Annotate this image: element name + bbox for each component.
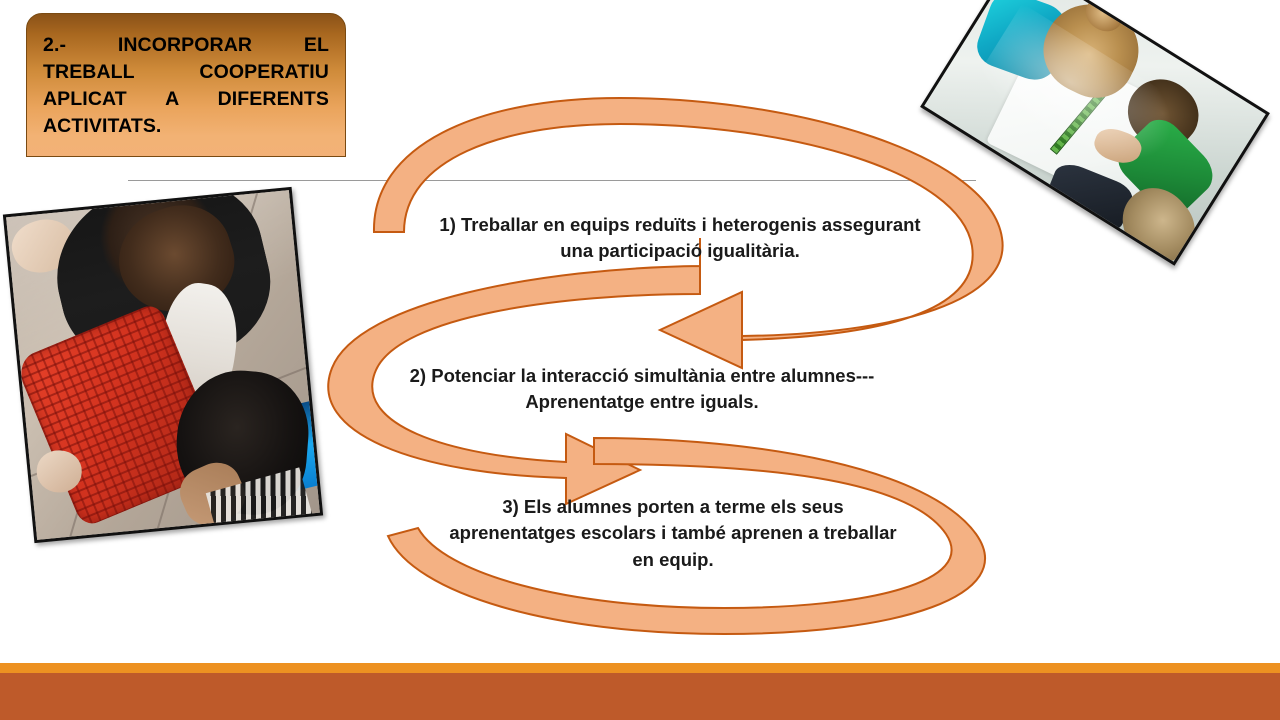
bottom-band — [0, 673, 1280, 720]
classroom-photo-desk-work — [920, 0, 1270, 266]
classroom-photo-red-chair — [3, 187, 323, 543]
step-3-text: 3) Els alumnes porten a terme els seus a… — [440, 494, 906, 573]
title-box: 2.- INCORPORAR EL TREBALL COOPERATIU APL… — [26, 13, 346, 157]
page-title: 2.- INCORPORAR EL TREBALL COOPERATIU APL… — [43, 32, 329, 140]
slide-canvas: 2.- INCORPORAR EL TREBALL COOPERATIU APL… — [0, 0, 1280, 720]
photo-left-content — [6, 190, 320, 540]
step-2-text: 2) Potenciar la interacció simultània en… — [398, 363, 886, 416]
step-1-text: 1) Treballar en equips reduïts i heterog… — [432, 212, 928, 265]
bottom-accent-strip — [0, 663, 1280, 673]
photo-right-content — [924, 0, 1266, 262]
horizontal-rule — [128, 180, 976, 181]
